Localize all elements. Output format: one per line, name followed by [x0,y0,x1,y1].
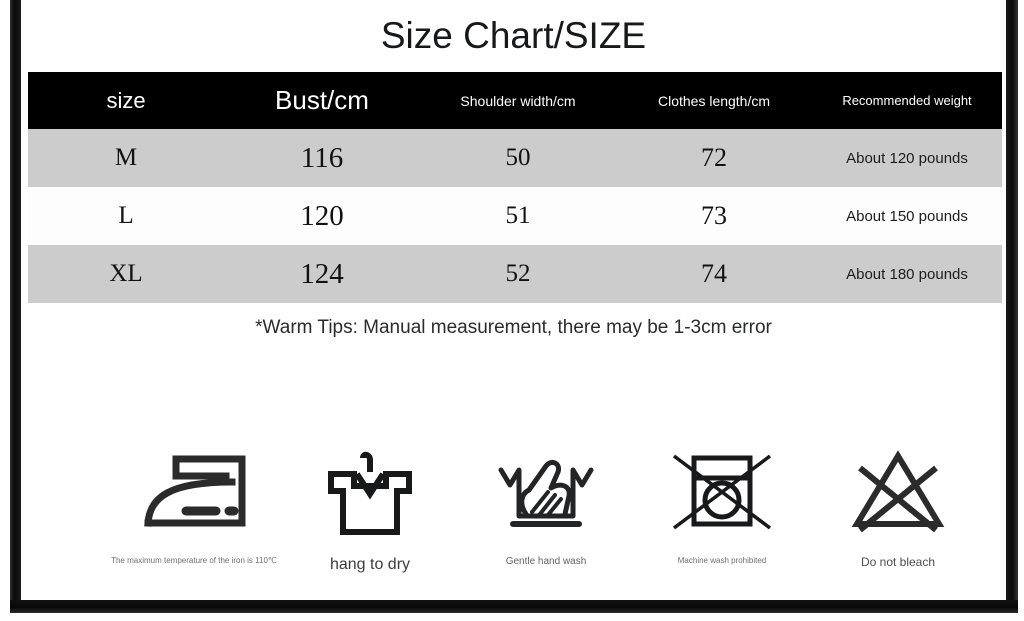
table-body: M 116 50 72 About 120 pounds L 120 51 73… [28,129,1002,303]
care-caption-do-not-bleach: Do not bleach [861,556,935,570]
column-header-size: size [28,72,224,129]
cell-length: 74 [616,245,812,303]
cell-weight: About 180 pounds [812,245,1002,303]
care-caption-hand-wash: Gentle hand wash [506,556,587,568]
cell-size: L [28,187,224,245]
cell-shoulder: 51 [420,187,616,245]
photo-frame-left-bar [10,0,21,613]
cell-length: 72 [616,129,812,187]
cell-size: XL [28,245,224,303]
cell-bust: 116 [224,129,420,187]
care-instructions-row: The maximum temperature of the iron is 1… [106,442,986,592]
table-row: L 120 51 73 About 150 pounds [28,187,1002,245]
care-caption-hang-to-dry: hang to dry [330,556,410,574]
care-item-do-not-bleach: Do not bleach [810,442,986,570]
care-item-iron: The maximum temperature of the iron is 1… [106,442,282,565]
table-row: XL 124 52 74 About 180 pounds [28,245,1002,303]
cell-weight: About 150 pounds [812,187,1002,245]
column-header-weight: Recommended weight [812,72,1002,129]
iron-icon [134,442,254,542]
column-header-length: Clothes length/cm [616,72,812,129]
care-caption-iron: The maximum temperature of the iron is 1… [111,556,277,565]
table-header-row: size Bust/cm Shoulder width/cm Clothes l… [28,72,1002,129]
size-chart-table: size Bust/cm Shoulder width/cm Clothes l… [28,72,1002,303]
cell-bust: 120 [224,187,420,245]
care-item-hang-to-dry: hang to dry [282,442,458,574]
size-chart-page: Size Chart/SIZE size Bust/cm Shoulder wi… [21,0,1006,600]
machine-wash-prohibited-icon [666,442,778,542]
cell-length: 73 [616,187,812,245]
photo-frame-bottom-bar [10,600,1018,613]
cell-weight: About 120 pounds [812,129,1002,187]
cell-shoulder: 50 [420,129,616,187]
page-title: Size Chart/SIZE [21,14,1006,58]
table-header: size Bust/cm Shoulder width/cm Clothes l… [28,72,1002,129]
do-not-bleach-icon [846,442,950,542]
column-header-shoulder: Shoulder width/cm [420,72,616,129]
warm-tips-note: *Warm Tips: Manual measurement, there ma… [21,317,1006,339]
hang-to-dry-icon [318,442,422,542]
care-item-hand-wash: Gentle hand wash [458,442,634,568]
cell-size: M [28,129,224,187]
care-caption-machine-wash-prohibited: Machine wash prohibited [678,556,767,565]
hand-wash-icon [491,442,601,542]
cell-shoulder: 52 [420,245,616,303]
cell-bust: 124 [224,245,420,303]
table-row: M 116 50 72 About 120 pounds [28,129,1002,187]
photo-frame-right-bar [1006,0,1018,613]
column-header-bust: Bust/cm [224,72,420,129]
care-item-machine-wash-prohibited: Machine wash prohibited [634,442,810,565]
